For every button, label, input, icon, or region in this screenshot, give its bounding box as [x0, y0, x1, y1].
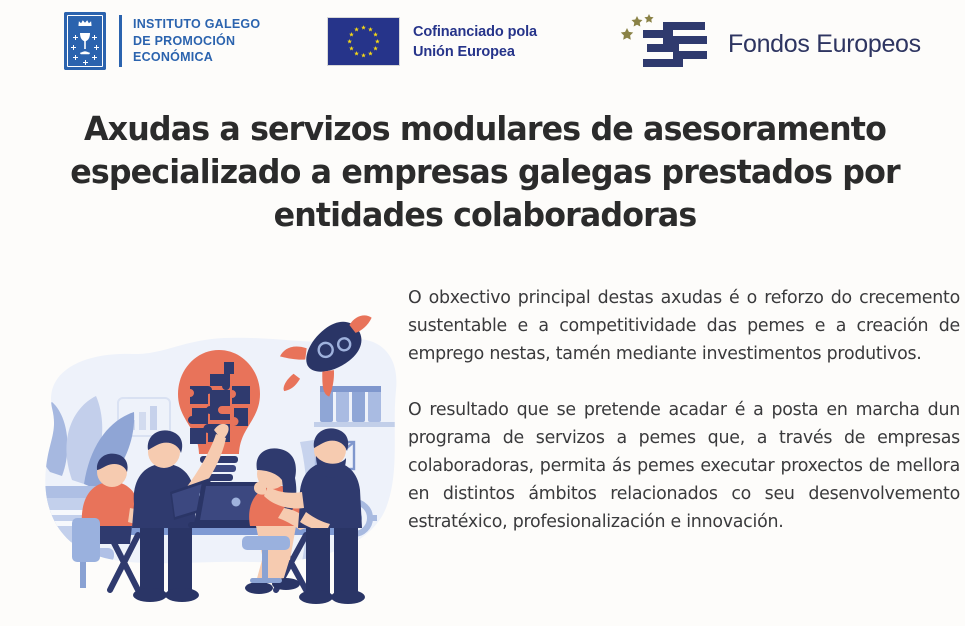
- logo-divider: [119, 15, 122, 67]
- paragraph-result: O resultado que se pretende acadar é a p…: [408, 396, 960, 537]
- paragraph-objective: O obxectivo principal destas axudas é o …: [408, 284, 960, 369]
- chair-back-left: [72, 518, 100, 562]
- chalice-icon: [78, 31, 92, 55]
- eu-flag-icon: [327, 17, 400, 66]
- igape-logo: INSTITUTO GALEGO DE PROMOCIÓN ECONÓMICA: [64, 12, 260, 70]
- igape-logo-text: INSTITUTO GALEGO DE PROMOCIÓN ECONÓMICA: [133, 16, 260, 66]
- galicia-coat-of-arms-icon: [64, 12, 106, 70]
- steps-group: [643, 22, 707, 67]
- fondos-europeos-logo: Fondos Europeos: [617, 8, 921, 80]
- stepped-bars-icon: [617, 8, 717, 80]
- eu-logo-text: Cofinanciado pola Unión Europea: [413, 22, 537, 62]
- poster-page: INSTITUTO GALEGO DE PROMOCIÓN ECONÓMICA …: [0, 0, 965, 626]
- european-union-logo: Cofinanciado pola Unión Europea: [327, 17, 537, 66]
- fondos-europeos-logo-text: Fondos Europeos: [728, 30, 921, 59]
- team-brainstorming-illustration: [14, 312, 404, 612]
- crown-icon: [78, 19, 93, 26]
- page-title: Axudas a servizos modulares de asesorame…: [58, 108, 912, 237]
- body-text-column: O obxectivo principal destas axudas é o …: [408, 284, 960, 537]
- logo-band: INSTITUTO GALEGO DE PROMOCIÓN ECONÓMICA …: [0, 0, 965, 92]
